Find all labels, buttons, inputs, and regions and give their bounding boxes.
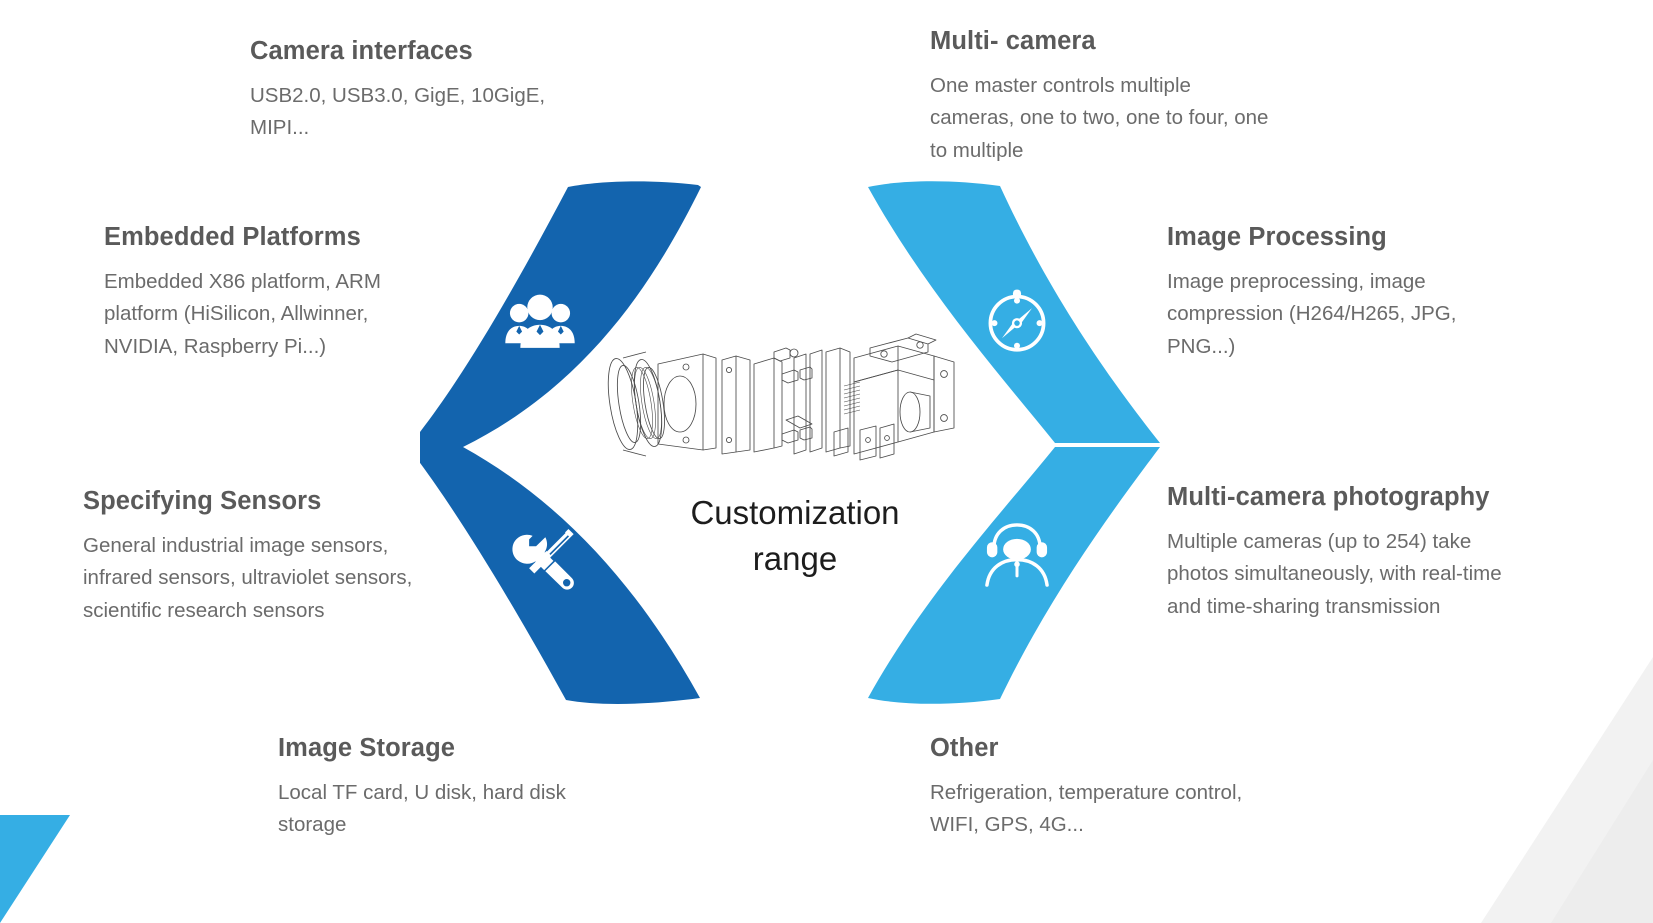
- item-other: Other Refrigeration, temperature control…: [930, 733, 1260, 842]
- center-caption-line2: range: [620, 536, 970, 582]
- item-description: Local TF card, U disk, hard disk storage: [278, 777, 608, 842]
- corner-wedge-bottom-right-2: [1551, 760, 1653, 923]
- compass-icon: [980, 285, 1054, 359]
- exploded-camera-module-illustration: [598, 312, 966, 492]
- headset-support-icon: [980, 518, 1054, 592]
- item-specifying-sensors: Specifying Sensors General industrial im…: [83, 486, 458, 627]
- item-title: Image Storage: [278, 733, 608, 765]
- item-image-storage: Image Storage Local TF card, U disk, har…: [278, 733, 608, 842]
- item-description: Refrigeration, temperature control, WIFI…: [930, 777, 1260, 842]
- tools-icon: [506, 522, 580, 596]
- item-camera-interfaces: Camera interfaces USB2.0, USB3.0, GigE, …: [250, 36, 590, 145]
- item-description: Embedded X86 platform, ARM platform (HiS…: [104, 266, 434, 363]
- people-group-icon: [503, 290, 577, 364]
- item-description: Multiple cameras (up to 254) take photos…: [1167, 526, 1527, 623]
- item-title: Specifying Sensors: [83, 486, 458, 518]
- center-caption: Customization range: [620, 490, 970, 581]
- item-image-processing: Image Processing Image preprocessing, im…: [1167, 222, 1487, 363]
- item-title: Multi-camera photography: [1167, 482, 1527, 514]
- item-description: Image preprocessing, image compression (…: [1167, 266, 1487, 363]
- item-multi-camera-photography: Multi-camera photography Multiple camera…: [1167, 482, 1527, 623]
- item-title: Multi- camera: [930, 26, 1280, 58]
- item-description: One master controls multiple cameras, on…: [930, 70, 1280, 167]
- item-description: USB2.0, USB3.0, GigE, 10GigE, MIPI...: [250, 80, 590, 145]
- corner-triangle-bottom-left: [0, 815, 70, 923]
- infographic-canvas: Customization range Camera interfaces US…: [0, 0, 1653, 923]
- item-title: Image Processing: [1167, 222, 1487, 254]
- item-title: Other: [930, 733, 1260, 765]
- item-embedded-platforms: Embedded Platforms Embedded X86 platform…: [104, 222, 434, 363]
- item-description: General industrial image sensors, infrar…: [83, 530, 458, 627]
- center-caption-line1: Customization: [620, 490, 970, 536]
- corner-wedge-bottom-right: [1481, 657, 1653, 923]
- item-title: Embedded Platforms: [104, 222, 434, 254]
- item-multi-camera: Multi- camera One master controls multip…: [930, 26, 1280, 167]
- item-title: Camera interfaces: [250, 36, 590, 68]
